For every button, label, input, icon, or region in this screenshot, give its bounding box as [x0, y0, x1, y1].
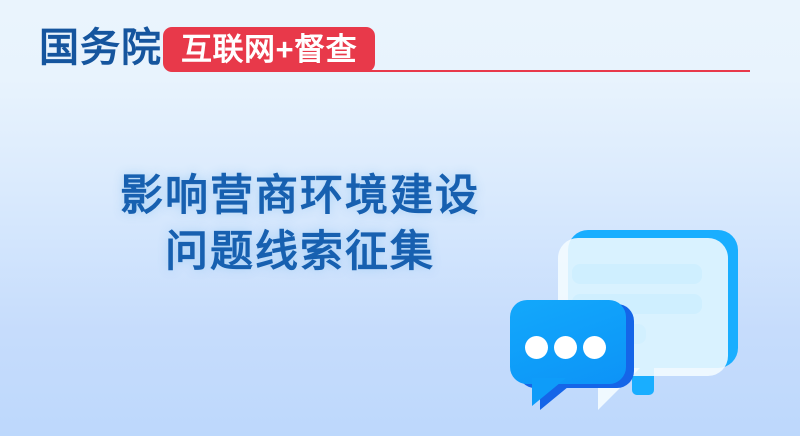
chat-bubbles-illustration — [480, 208, 800, 436]
small-bubble-tail — [532, 378, 566, 406]
campaign-banner: 国务院 互联网+督查 影响营商环境建设 问题线索征集 — [0, 0, 800, 436]
typing-dot-3 — [583, 336, 606, 359]
internet-plus-supervision-badge: 互联网+督查 — [163, 27, 375, 72]
banner-header: 国务院 互联网+督查 — [0, 0, 800, 100]
bubble-text-bar-1 — [572, 264, 702, 284]
gov-council-logo: 国务院 — [39, 26, 162, 70]
badge-label: 互联网+督查 — [181, 34, 357, 65]
typing-dot-1 — [525, 336, 548, 359]
typing-dot-2 — [554, 336, 577, 359]
header-divider-rule — [347, 70, 750, 72]
